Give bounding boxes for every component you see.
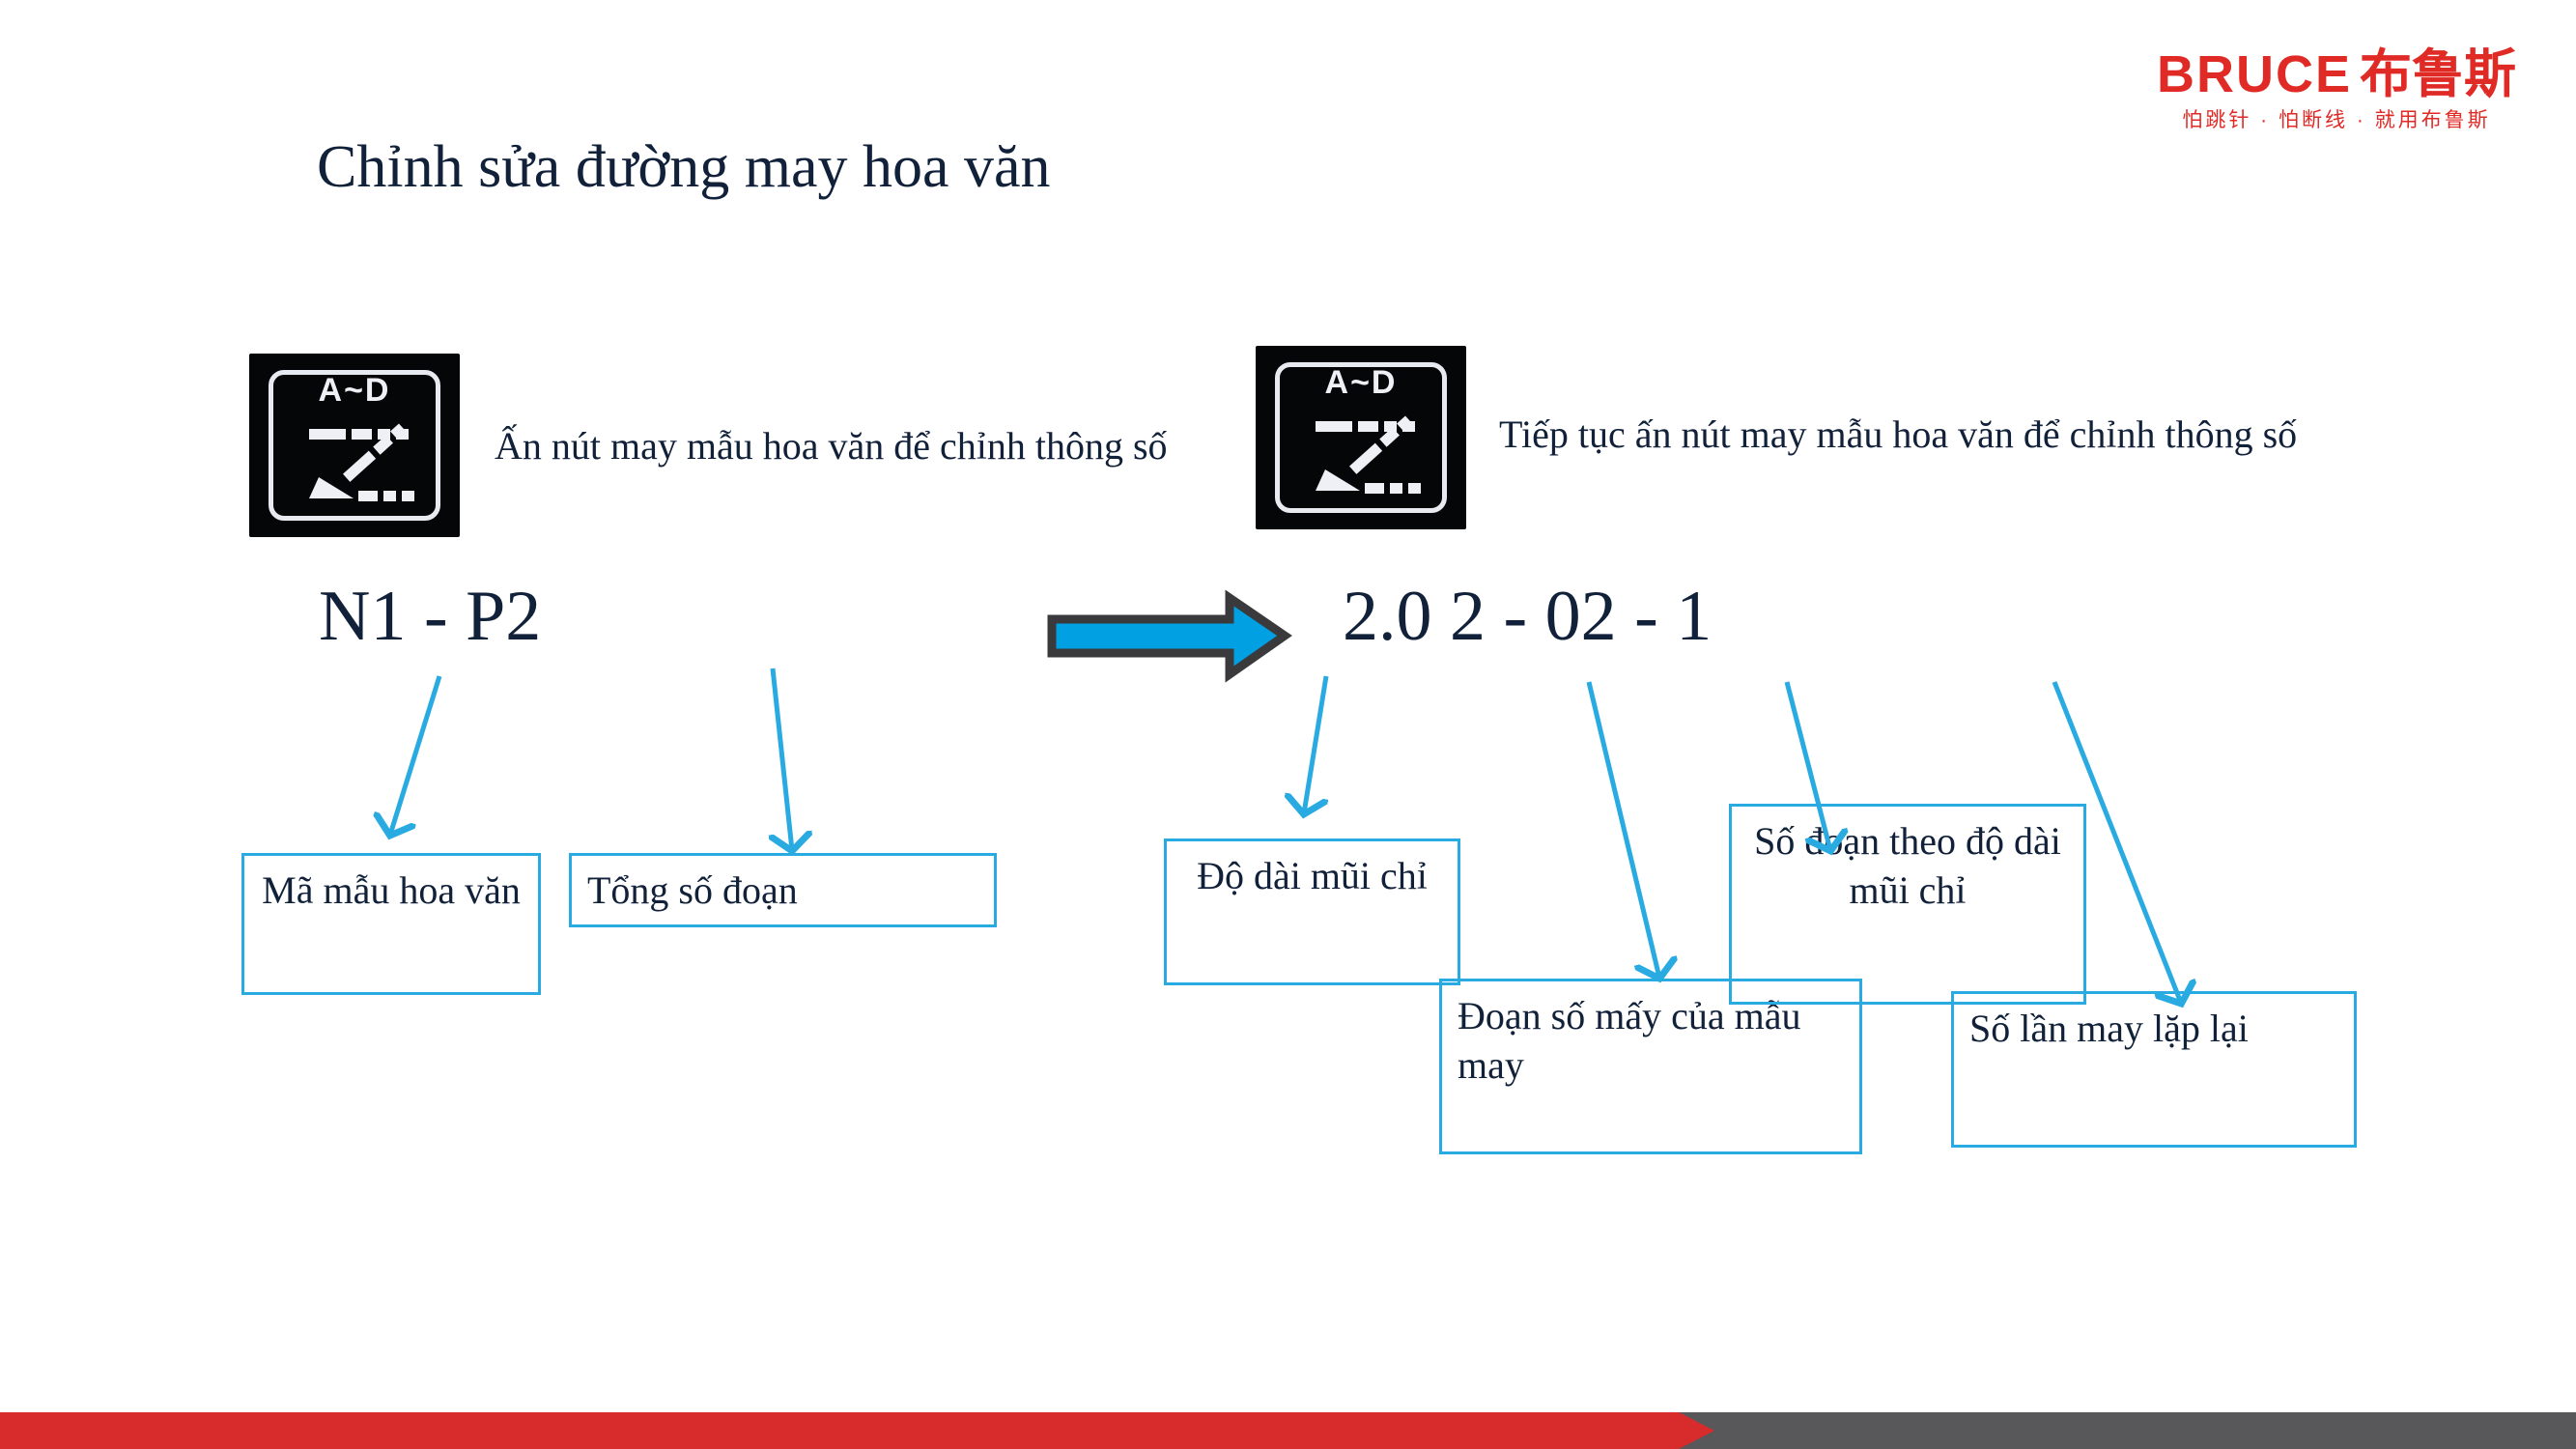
label-repeat-count-text: Số lần may lặp lại — [1969, 1007, 2249, 1050]
label-segment-number-text: Đoạn số mấy của mẫu may — [1458, 994, 1800, 1087]
big-right-arrow-icon — [1052, 598, 1285, 674]
icon-zigzag-glyph — [249, 354, 460, 537]
icon-zigzag-glyph — [1256, 346, 1466, 529]
step-2-caption: Tiếp tục ấn nút may mẫu hoa văn để chỉnh… — [1499, 410, 2310, 461]
label-box-segments-by-length: Số đoạn theo độ dài mũi chỉ — [1729, 804, 2086, 1005]
connector-pattern-code — [390, 676, 439, 835]
footer-bar — [0, 1412, 2576, 1449]
label-total-segments-text: Tổng số đoạn — [587, 868, 798, 912]
step-1-caption: Ấn nút may mẫu hoa văn để chỉnh thông số — [495, 421, 1238, 472]
step-1-code-display: N1 - P2 — [319, 576, 541, 658]
label-stitch-length-text: Độ dài mũi chỉ — [1197, 854, 1428, 897]
connector-arrows-layer — [0, 0, 2576, 1449]
label-box-total-segments: Tổng số đoạn — [569, 853, 997, 927]
step-2-code-display: 2.0 2 - 02 - 1 — [1343, 576, 1712, 658]
pattern-sew-button-icon-2[interactable]: A~D — [1256, 346, 1466, 529]
connector-segment-number — [1589, 682, 1659, 978]
transition-arrow-layer — [0, 0, 2576, 1449]
brand-logo-latin: BRUCE — [2157, 45, 2352, 103]
footer-bar-red — [0, 1412, 1714, 1449]
label-box-segment-number: Đoạn số mấy của mẫu may — [1439, 979, 1862, 1154]
label-segments-by-length-text: Số đoạn theo độ dài mũi chỉ — [1754, 819, 2061, 912]
label-box-pattern-code: Mã mẫu hoa văn — [241, 853, 541, 995]
label-box-stitch-length: Độ dài mũi chỉ — [1164, 838, 1460, 985]
connector-stitch-length — [1304, 676, 1326, 813]
brand-logo-wordmark: BRUCE布鲁斯 — [2143, 48, 2530, 100]
label-pattern-code-text: Mã mẫu hoa văn — [262, 868, 521, 912]
page-title: Chỉnh sửa đường may hoa văn — [317, 133, 1051, 202]
brand-logo-chinese: 布鲁斯 — [2360, 45, 2516, 103]
label-box-repeat-count: Số lần may lặp lại — [1951, 991, 2357, 1148]
brand-tagline: 怕跳针 · 怕断线 · 就用布鲁斯 — [2143, 110, 2530, 130]
brand-logo: BRUCE布鲁斯 怕跳针 · 怕断线 · 就用布鲁斯 — [2143, 48, 2530, 130]
pattern-sew-button-icon-1[interactable]: A~D — [249, 354, 460, 537]
connector-total-segments — [773, 668, 792, 850]
